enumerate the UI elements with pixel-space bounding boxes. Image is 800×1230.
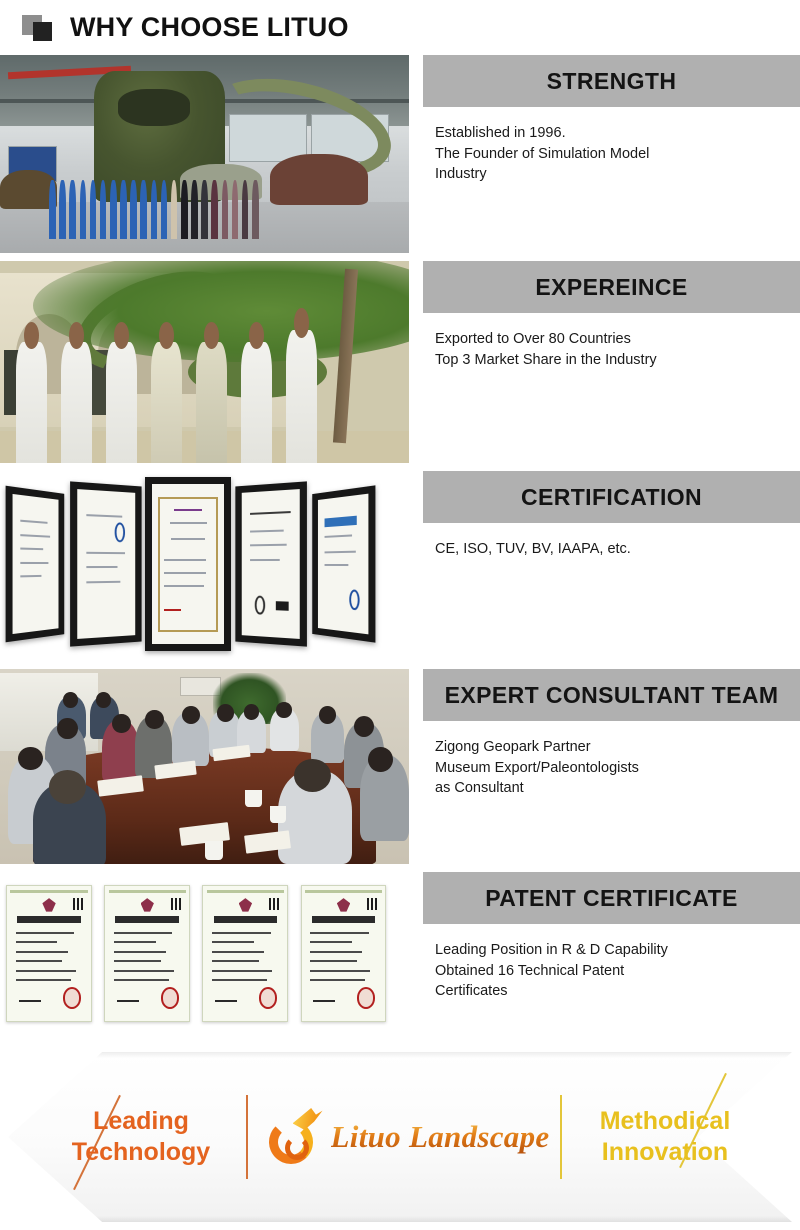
square-front-shape: [33, 22, 52, 41]
banner-left-line2: Technology: [44, 1137, 238, 1169]
feature-row-experience: EXPEREINCE Exported to Over 80 Countries…: [0, 261, 800, 463]
band-patent: PATENT CERTIFICATE: [423, 872, 800, 924]
band-label-expert-team: EXPERT CONSULTANT TEAM: [445, 682, 779, 709]
band-strength: STRENGTH: [423, 55, 800, 107]
band-label-experience: EXPEREINCE: [535, 274, 687, 301]
description-experience: Exported to Over 80 Countries Top 3 Mark…: [423, 313, 800, 370]
page-header: WHY CHOOSE LITUO: [0, 0, 800, 55]
photo-factory-workshop: [0, 55, 409, 253]
text-cell-expert-team: EXPERT CONSULTANT TEAM Zigong Geopark Pa…: [409, 669, 800, 799]
photo-overseas-clients: [0, 261, 409, 463]
photo-certificates: [0, 471, 409, 661]
description-certification: CE, ISO, TUV, BV, IAAPA, etc.: [423, 523, 800, 560]
text-cell-certification: CERTIFICATION CE, ISO, TUV, BV, IAAPA, e…: [409, 471, 800, 560]
description-patent: Leading Position in R & D Capability Obt…: [423, 924, 800, 1002]
lituo-swirl-flame-logo-icon: [263, 1108, 325, 1166]
brand-name: Lituo Landscape: [331, 1119, 550, 1155]
banner-right-line1: Methodical: [568, 1106, 762, 1138]
text-cell-experience: EXPEREINCE Exported to Over 80 Countries…: [409, 261, 800, 370]
brand-logo: Lituo Landscape: [270, 1108, 542, 1166]
bottom-banner: Leading Technology Lituo Landscape Metho…: [0, 1044, 800, 1230]
text-cell-strength: STRENGTH Established in 1996. The Founde…: [409, 55, 800, 185]
feature-row-patent: PATENT CERTIFICATE Leading Position in R…: [0, 872, 800, 1035]
banner-left-text: Leading Technology: [44, 1106, 238, 1169]
band-label-strength: STRENGTH: [547, 68, 677, 95]
banner-right-text: Methodical Innovation: [568, 1106, 762, 1169]
description-expert-team: Zigong Geopark Partner Museum Export/Pal…: [423, 721, 800, 799]
photo-meeting-room: [0, 669, 409, 864]
band-expert-team: EXPERT CONSULTANT TEAM: [423, 669, 800, 721]
banner-divider-right: [560, 1095, 562, 1179]
band-certification: CERTIFICATION: [423, 471, 800, 523]
band-experience: EXPEREINCE: [423, 261, 800, 313]
banner-left-line1: Leading: [44, 1106, 238, 1138]
feature-row-strength: STRENGTH Established in 1996. The Founde…: [0, 55, 800, 253]
photo-patent-certificates: [0, 872, 409, 1035]
feature-row-certification: CERTIFICATION CE, ISO, TUV, BV, IAAPA, e…: [0, 471, 800, 661]
band-label-certification: CERTIFICATION: [521, 484, 702, 511]
band-label-patent: PATENT CERTIFICATE: [485, 885, 738, 912]
two-squares-icon: [22, 15, 56, 41]
description-strength: Established in 1996. The Founder of Simu…: [423, 107, 800, 185]
text-cell-patent: PATENT CERTIFICATE Leading Position in R…: [409, 872, 800, 1002]
page-title: WHY CHOOSE LITUO: [70, 12, 349, 43]
feature-row-expert-team: EXPERT CONSULTANT TEAM Zigong Geopark Pa…: [0, 669, 800, 864]
banner-divider-left: [246, 1095, 248, 1179]
banner-right-line2: Innovation: [568, 1137, 762, 1169]
